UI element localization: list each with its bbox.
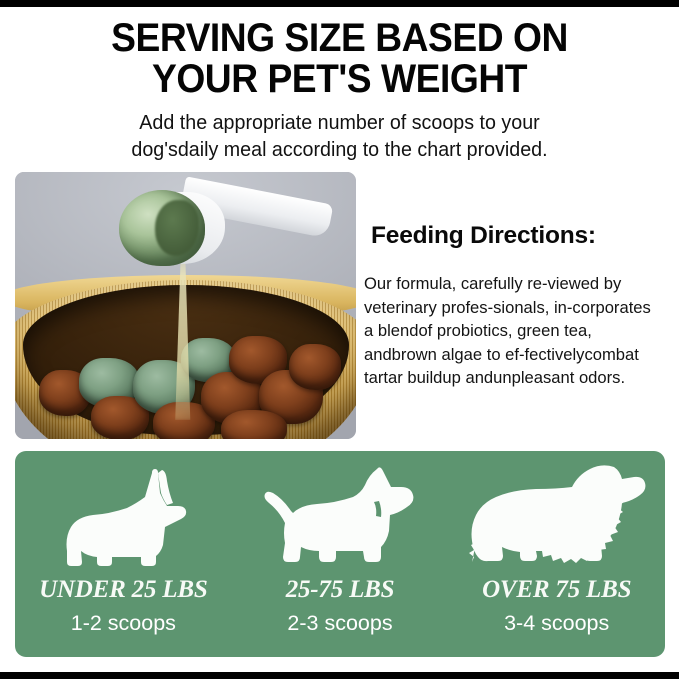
feeding-directions-title: Feeding Directions:: [371, 222, 596, 250]
page-subtitle: Add the appropriate number of scoops to …: [14, 109, 666, 163]
serving-column-small: UNDER 25 LBS 1-2 scoops: [15, 451, 232, 657]
page-title-line-2: YOUR PET'S WEIGHT: [24, 59, 655, 100]
serving-column-large: OVER 75 LBS 3-4 scoops: [448, 451, 665, 657]
small-dog-icon: [15, 459, 232, 571]
serving-column-medium: 25-75 LBS 2-3 scoops: [232, 451, 449, 657]
page-subtitle-line-2: dog'sdaily meal according to the chart p…: [14, 136, 666, 163]
feeding-directions-body: Our formula, carefully re-viewed by vete…: [364, 272, 664, 390]
product-photo: [15, 172, 356, 439]
bottom-rule: [0, 672, 679, 679]
scoops-label: 2-3 scoops: [232, 611, 449, 636]
weight-label: 25-75 LBS: [232, 576, 449, 604]
page-title-line-1: SERVING SIZE BASED ON: [24, 18, 655, 59]
top-rule: [0, 0, 679, 7]
scoops-label: 3-4 scoops: [448, 611, 665, 636]
kibble-icon: [221, 410, 287, 439]
medium-dog-icon: [232, 459, 449, 571]
page-subtitle-line-1: Add the appropriate number of scoops to …: [14, 109, 666, 136]
large-dog-icon: [448, 459, 665, 571]
serving-chart-panel: UNDER 25 LBS 1-2 scoops 25-75 LBS 2-3 sc…: [15, 451, 665, 657]
kibble-icon: [289, 344, 341, 390]
serving-chart-columns: UNDER 25 LBS 1-2 scoops 25-75 LBS 2-3 sc…: [15, 451, 665, 657]
weight-label: UNDER 25 LBS: [15, 576, 232, 604]
header-block: SERVING SIZE BASED ON YOUR PET'S WEIGHT …: [0, 18, 679, 163]
weight-label: OVER 75 LBS: [448, 576, 665, 604]
scoops-label: 1-2 scoops: [15, 611, 232, 636]
page-title: SERVING SIZE BASED ON YOUR PET'S WEIGHT: [24, 18, 655, 100]
